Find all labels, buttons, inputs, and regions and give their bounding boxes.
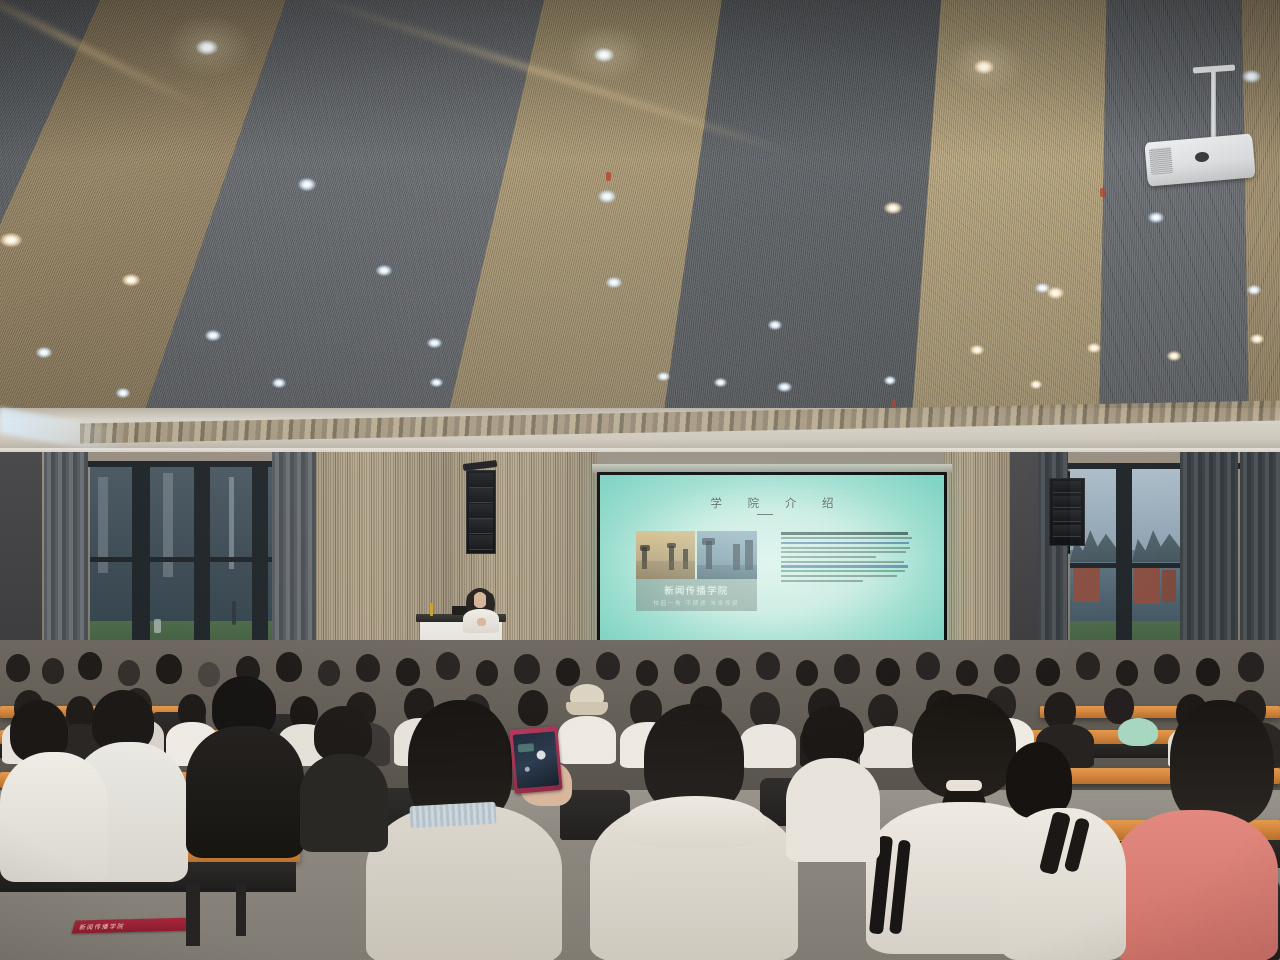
slide-title-underline (757, 514, 773, 515)
podium-microphone (430, 603, 433, 616)
desk-leg (236, 884, 246, 936)
downlight (714, 378, 727, 387)
body-line (781, 547, 911, 549)
floor-banner-text: 新闻传播学院 (78, 920, 190, 932)
window-pane (150, 465, 194, 665)
body-line (781, 570, 905, 572)
downlight (430, 378, 443, 387)
foreground-student-near-left (0, 700, 110, 880)
desk-leg (186, 884, 200, 946)
student-hair (1170, 700, 1274, 826)
wood-wall-panel-right (944, 452, 1010, 667)
lecture-hall-photo: 学 院 介 绍 (0, 0, 1280, 960)
body-line (781, 575, 898, 577)
student-hair (802, 706, 864, 766)
window-head (82, 461, 302, 467)
downlight (1148, 212, 1164, 223)
body-line (781, 542, 909, 544)
downlight (974, 60, 994, 74)
phone-screen (513, 731, 559, 788)
sprinkler-head-icon (606, 172, 611, 181)
projector-vent (1149, 147, 1173, 175)
downlight (196, 40, 218, 55)
downlight (970, 345, 984, 355)
window-mullion (194, 461, 210, 669)
slide-photo-group (636, 531, 756, 578)
projector-mount-rod (1211, 72, 1216, 144)
body-line (781, 532, 908, 534)
sprinkler-head-icon (892, 400, 896, 407)
student (300, 706, 390, 846)
smartphone-held[interactable] (509, 726, 562, 794)
downlight (427, 338, 442, 348)
foreground-student-hooded (590, 704, 800, 960)
downlight (884, 376, 896, 385)
student-hair (1006, 742, 1072, 818)
downlight (1087, 343, 1101, 353)
window-mullion (1116, 463, 1132, 669)
ceiling (0, 0, 1280, 455)
window-mullion (132, 461, 150, 669)
downlight (272, 378, 286, 388)
downlight (594, 48, 614, 62)
slide-photo-caption: 新闻传播学院 校园一角 不期遇 未来传媒 (636, 579, 756, 611)
presenter (455, 588, 507, 628)
hair-tie (946, 780, 982, 791)
downlight (122, 274, 140, 286)
window-pane (1132, 467, 1180, 665)
body-line (781, 565, 908, 567)
downlight (768, 320, 782, 330)
downlight (606, 277, 622, 288)
downlight (598, 190, 616, 203)
student-body (0, 752, 108, 882)
downlight (777, 382, 792, 392)
student-body (300, 754, 388, 852)
student-body (186, 726, 304, 858)
downlight (116, 388, 130, 398)
downlight (657, 372, 670, 381)
presenter-head (473, 592, 487, 608)
student-collar (409, 802, 496, 828)
downlight (1030, 380, 1042, 389)
foreground-student-pink (1112, 700, 1280, 960)
downlight (205, 330, 221, 341)
left-curtain-far (272, 452, 318, 667)
window-pane (210, 465, 252, 665)
left-line-array-speaker (466, 470, 496, 554)
downlight (1247, 285, 1261, 295)
downlight (376, 265, 392, 276)
downlight (1250, 334, 1264, 344)
downlight (1167, 351, 1181, 361)
student-body (366, 804, 562, 960)
foreground-student-dark (186, 676, 306, 856)
right-curtain-mid (1180, 452, 1238, 670)
downlight (1242, 70, 1261, 83)
presenter-hands (477, 618, 486, 626)
body-line (781, 551, 907, 553)
window-mullion (252, 461, 268, 669)
downlight (0, 233, 22, 247)
caption-sub: 校园一角 不期遇 未来传媒 (653, 599, 739, 607)
sprinkler-head-icon (1100, 188, 1105, 197)
left-curtain-near (44, 452, 88, 667)
right-dark-wall (1010, 452, 1038, 672)
downlight (1035, 283, 1050, 293)
field-camera-photo (697, 531, 756, 578)
right-window-speaker-cluster (1049, 478, 1085, 546)
foreground-student-right-inner (1000, 742, 1130, 960)
right-curtain-outer (1240, 452, 1280, 670)
projection-screen: 学 院 介 绍 (597, 472, 947, 660)
left-dark-wall (0, 452, 42, 672)
hood (624, 796, 766, 848)
downlight (884, 202, 902, 214)
studio-camera-photo (636, 531, 695, 578)
student-body (1112, 810, 1278, 960)
caption-main: 新闻传播学院 (664, 583, 728, 597)
slide-title: 学 院 介 绍 (600, 495, 944, 511)
student (786, 706, 882, 856)
downlight (36, 347, 52, 358)
body-line (781, 556, 876, 558)
student-body (786, 758, 880, 862)
body-line (781, 537, 912, 539)
downlight (298, 178, 316, 191)
body-line (781, 580, 863, 582)
body-line (781, 561, 904, 563)
window-pane (90, 465, 132, 665)
slide-body-text (781, 532, 913, 584)
presentation-slide: 学 院 介 绍 (600, 475, 944, 657)
